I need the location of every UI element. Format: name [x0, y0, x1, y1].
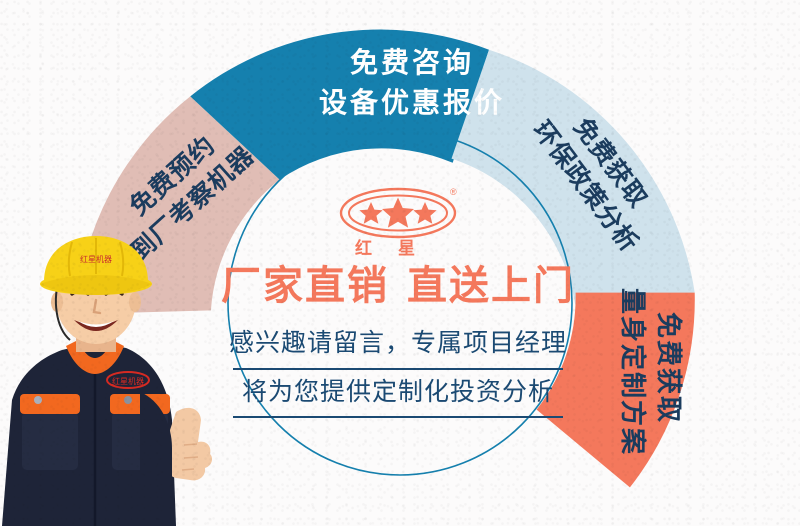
divider-bottom	[233, 416, 563, 418]
smiling-worker-thumbs-up: 红星机器 红星机器	[0, 234, 230, 526]
logo-wordmark: 红星	[355, 238, 441, 258]
arc-label-free-custom-line1: 免费获取	[654, 312, 684, 424]
hongxing-logo-icon: ® 红星	[336, 186, 460, 258]
worker-button-left	[34, 396, 42, 404]
poster-canvas: 免费预约 到厂考察机器 免费咨询 设备优惠报价 免费获取 环保政策分析 免费获取…	[0, 0, 800, 526]
center-content: ® 红星 厂家直销直送上门 感兴趣请留言，专属项目经理 将为您提供定制化投资分析	[196, 186, 600, 456]
arc-label-free-consult-line2: 设备优惠报价	[319, 87, 505, 118]
subtext-line1: 感兴趣请留言，专属项目经理	[196, 328, 600, 359]
headline-part1: 厂家直销	[221, 264, 389, 308]
worker-helmet-logo-text: 红星机器	[80, 254, 112, 264]
arc-label-free-custom-line2: 量身定制方案	[618, 288, 648, 456]
divider-top	[233, 368, 563, 370]
worker-button-right	[124, 396, 132, 404]
worker-jacket-logo-text: 红星机器	[112, 376, 144, 386]
worker-pocket-left	[22, 412, 78, 470]
arc-label-free-consult-line1: 免费咨询	[350, 47, 474, 78]
headline: 厂家直销直送上门	[196, 266, 600, 306]
subtext-line2: 将为您提供定制化投资分析	[196, 377, 600, 408]
brand-logo: ® 红星	[336, 186, 460, 258]
registered-mark: ®	[450, 187, 457, 197]
headline-part2: 直送上门	[407, 264, 575, 308]
worker-pocket-flap-left	[20, 394, 80, 414]
worker-ear-right	[129, 292, 141, 312]
